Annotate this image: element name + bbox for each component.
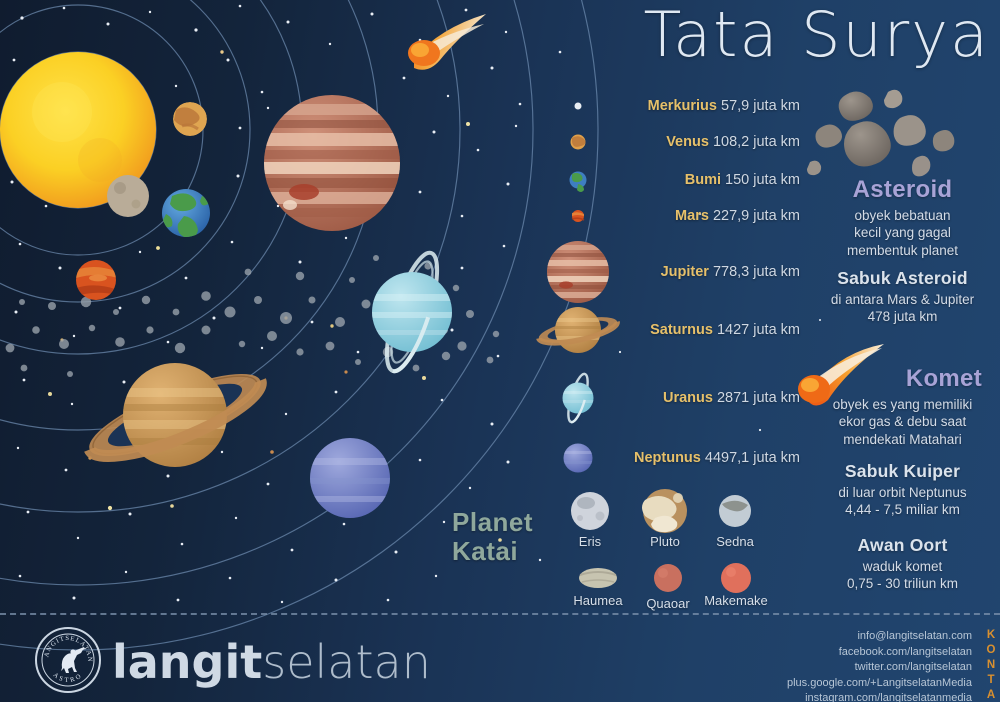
awan-oort-body-line2: 0,75 - 30 triliun km bbox=[805, 575, 1000, 592]
dwarf-planet-quaoar bbox=[654, 564, 682, 592]
scale-planet-uranus bbox=[562, 372, 594, 424]
comet-illustration bbox=[408, 14, 486, 70]
dwarf-title-line2: Katai bbox=[452, 537, 562, 566]
sabuk-asteroid-body-line2: 478 juta km bbox=[805, 308, 1000, 325]
planet-name: Saturnus bbox=[650, 322, 713, 338]
sabuk-asteroid-section: Sabuk Asteroid di antara Mars & Jupiter … bbox=[805, 268, 1000, 326]
scale-planet-mars bbox=[572, 210, 584, 222]
contact-facebook[interactable]: facebook.com/langitselatan bbox=[722, 645, 972, 661]
uranus-body bbox=[372, 248, 452, 376]
earth-body bbox=[162, 189, 210, 238]
footer: langitselatan info@langitselatan.com fac… bbox=[0, 615, 1000, 702]
scale-planet-neptune bbox=[563, 444, 593, 473]
dwarf-planet-eris bbox=[571, 492, 609, 530]
komet-section: Komet obyek es yang memiliki ekor gas & … bbox=[805, 365, 1000, 448]
neptune-body bbox=[310, 438, 390, 518]
komet-body-line1: obyek es yang memiliki bbox=[805, 396, 1000, 413]
brand-wordmark: langitselatan bbox=[112, 639, 431, 685]
awan-oort-body: waduk komet 0,75 - 30 triliun km bbox=[805, 558, 1000, 593]
asteroid-body-line1: obyek bebatuan bbox=[805, 207, 1000, 224]
brand-light: selatan bbox=[262, 635, 431, 689]
scale-planet-jupiter bbox=[547, 241, 609, 303]
dwarf-planet-makemake bbox=[721, 563, 751, 593]
scale-planet-earth bbox=[570, 172, 587, 193]
awan-oort-heading: Awan Oort bbox=[805, 535, 1000, 556]
komet-body: obyek es yang memiliki ekor gas & debu s… bbox=[805, 396, 1000, 448]
brand-bold: langit bbox=[112, 635, 262, 689]
mercury-body bbox=[107, 175, 149, 217]
contact-list: info@langitselatan.com facebook.com/lang… bbox=[722, 629, 972, 702]
planet-row-mars: Mars 227,9 juta km bbox=[675, 208, 800, 224]
sabuk-kuiper-body-line2: 4,44 - 7,5 miliar km bbox=[805, 501, 1000, 518]
komet-heading: Komet bbox=[805, 365, 1000, 393]
awan-oort-body-line1: waduk komet bbox=[805, 558, 1000, 575]
planet-row-uranus: Uranus 2871 juta km bbox=[663, 390, 800, 406]
planet-row-merkurius: Merkurius 57,9 juta km bbox=[648, 98, 800, 114]
dwarf-label-sedna: Sedna bbox=[692, 534, 778, 549]
asteroid-body-line2: kecil yang gagal bbox=[805, 224, 1000, 241]
planet-distance: 1427 juta km bbox=[717, 322, 800, 338]
contact-twitter[interactable]: twitter.com/langitselatan bbox=[722, 660, 972, 676]
sabuk-kuiper-section: Sabuk Kuiper di luar orbit Neptunus 4,44… bbox=[805, 461, 1000, 519]
planet-distance: 2871 juta km bbox=[717, 390, 800, 406]
sabuk-asteroid-heading: Sabuk Asteroid bbox=[805, 268, 1000, 289]
planet-name: Jupiter bbox=[661, 264, 709, 280]
scale-planet-saturn bbox=[537, 307, 619, 353]
asteroid-heading: Asteroid bbox=[805, 176, 1000, 204]
dwarf-planet-haumea bbox=[579, 568, 617, 588]
komet-body-line3: mendekati Matahari bbox=[805, 431, 1000, 448]
mars-body bbox=[76, 260, 118, 300]
venus-body bbox=[173, 102, 207, 136]
sabuk-kuiper-body: di luar orbit Neptunus 4,44 - 7,5 miliar… bbox=[805, 484, 1000, 519]
planet-row-neptunus: Neptunus 4497,1 juta km bbox=[634, 450, 800, 466]
planet-distance: 227,9 juta km bbox=[713, 208, 800, 224]
asteroid-body-line3: membentuk planet bbox=[805, 242, 1000, 259]
planet-distance: 57,9 juta km bbox=[721, 98, 800, 114]
komet-body-line2: ekor gas & debu saat bbox=[805, 413, 1000, 430]
asteroid-section: Asteroid obyek bebatuan kecil yang gagal… bbox=[805, 176, 1000, 259]
planet-name: Venus bbox=[666, 134, 709, 150]
infographic-root: LANGITSELATAN ASTRO Tata Surya Merkurius… bbox=[0, 0, 1000, 702]
saturn-body bbox=[81, 358, 270, 471]
scale-planet-venus bbox=[571, 135, 586, 150]
planet-name: Uranus bbox=[663, 390, 713, 406]
sabuk-asteroid-body: di antara Mars & Jupiter 478 juta km bbox=[805, 291, 1000, 326]
scale-planet-mercury bbox=[575, 103, 582, 110]
planet-name: Mars bbox=[675, 208, 709, 224]
planet-distance: 150 juta km bbox=[725, 172, 800, 188]
contact-instagram[interactable]: instagram.com/langitselatanmedia bbox=[722, 691, 972, 702]
planet-row-saturnus: Saturnus 1427 juta km bbox=[650, 322, 800, 338]
sabuk-asteroid-body-line1: di antara Mars & Jupiter bbox=[805, 291, 1000, 308]
dwarf-planet-pluto bbox=[642, 489, 687, 533]
planet-row-bumi: Bumi 150 juta km bbox=[685, 172, 800, 188]
kontak-label: KONTAK bbox=[985, 629, 997, 702]
planet-row-venus: Venus 108,2 juta km bbox=[666, 134, 800, 150]
sabuk-kuiper-heading: Sabuk Kuiper bbox=[805, 461, 1000, 482]
dwarf-label-makemake: Makemake bbox=[693, 593, 779, 608]
dwarf-label-eris: Eris bbox=[547, 534, 633, 549]
planet-name: Bumi bbox=[685, 172, 721, 188]
planet-name: Neptunus bbox=[634, 450, 701, 466]
contact-email[interactable]: info@langitselatan.com bbox=[722, 629, 972, 645]
dwarf-planet-sedna bbox=[719, 495, 751, 527]
page-title: Tata Surya bbox=[560, 2, 990, 67]
jupiter-body bbox=[264, 95, 400, 231]
sabuk-kuiper-body-line1: di luar orbit Neptunus bbox=[805, 484, 1000, 501]
dwarf-title-line1: Planet bbox=[452, 508, 562, 537]
planet-distance: 108,2 juta km bbox=[713, 134, 800, 150]
solar-system-illustration: LANGITSELATAN ASTRO bbox=[0, 0, 1000, 702]
awan-oort-section: Awan Oort waduk komet 0,75 - 30 triliun … bbox=[805, 535, 1000, 593]
asteroid-body: obyek bebatuan kecil yang gagal membentu… bbox=[805, 207, 1000, 259]
planet-distance: 4497,1 juta km bbox=[705, 450, 800, 466]
planet-row-jupiter: Jupiter 778,3 juta km bbox=[661, 264, 800, 280]
contact-googleplus[interactable]: plus.google.com/+LangitselatanMedia bbox=[722, 676, 972, 692]
planet-distance: 778,3 juta km bbox=[713, 264, 800, 280]
planet-name: Merkurius bbox=[648, 98, 717, 114]
dwarf-planet-title: Planet Katai bbox=[452, 508, 562, 566]
asteroid-cluster-illustration bbox=[807, 90, 954, 177]
